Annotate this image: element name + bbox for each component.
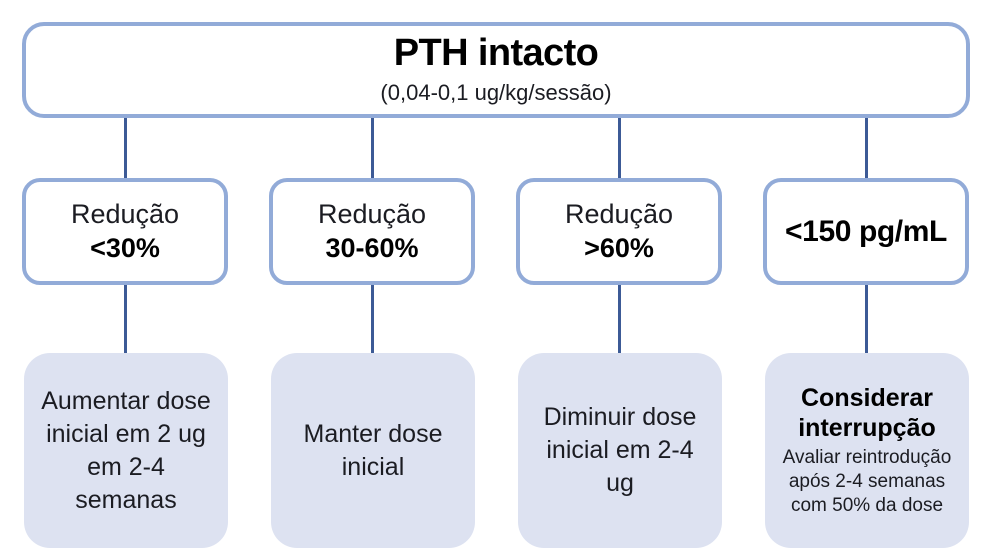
connector-root-to-branch-3 <box>618 118 621 180</box>
node-action-4[interactable]: Considerar interrupção Avaliar reintrodu… <box>765 353 969 548</box>
action-3-text: Diminuir dose inicial em 2-4 ug <box>530 401 710 500</box>
node-root-pth-intacto[interactable]: PTH intacto (0,04-0,1 ug/kg/sessão) <box>22 22 970 118</box>
root-subtitle: (0,04-0,1 ug/kg/sessão) <box>380 79 611 107</box>
connector-branch-1-to-action-1 <box>124 285 127 353</box>
criteria-3-label: Redução <box>565 199 673 230</box>
flowchart-canvas: PTH intacto (0,04-0,1 ug/kg/sessão) Redu… <box>0 0 1000 559</box>
connector-root-to-branch-4 <box>865 118 868 180</box>
node-criteria-1[interactable]: Redução <30% <box>22 178 228 285</box>
action-2-text: Manter dose inicial <box>283 418 463 484</box>
criteria-1-value: <30% <box>90 232 160 264</box>
criteria-1-label: Redução <box>71 199 179 230</box>
connector-branch-3-to-action-3 <box>618 285 621 353</box>
root-title: PTH intacto <box>394 34 599 74</box>
action-1-text: Aumentar dose inicial em 2 ug em 2-4 sem… <box>36 385 216 517</box>
node-criteria-2[interactable]: Redução 30-60% <box>269 178 475 285</box>
connector-root-to-branch-1 <box>124 118 127 180</box>
criteria-2-label: Redução <box>318 199 426 230</box>
criteria-2-value: 30-60% <box>325 232 418 264</box>
node-criteria-4[interactable]: <150 pg/mL <box>763 178 969 285</box>
node-action-1[interactable]: Aumentar dose inicial em 2 ug em 2-4 sem… <box>24 353 228 548</box>
node-action-3[interactable]: Diminuir dose inicial em 2-4 ug <box>518 353 722 548</box>
connector-branch-4-to-action-4 <box>865 285 868 353</box>
criteria-4-value: <150 pg/mL <box>785 214 947 250</box>
node-criteria-3[interactable]: Redução >60% <box>516 178 722 285</box>
action-4-heading: Considerar interrupção <box>777 383 957 443</box>
action-4-note: Avaliar reintrodução após 2-4 semanas co… <box>777 446 957 517</box>
node-action-2[interactable]: Manter dose inicial <box>271 353 475 548</box>
connector-root-to-branch-2 <box>371 118 374 180</box>
connector-branch-2-to-action-2 <box>371 285 374 353</box>
criteria-3-value: >60% <box>584 232 654 264</box>
